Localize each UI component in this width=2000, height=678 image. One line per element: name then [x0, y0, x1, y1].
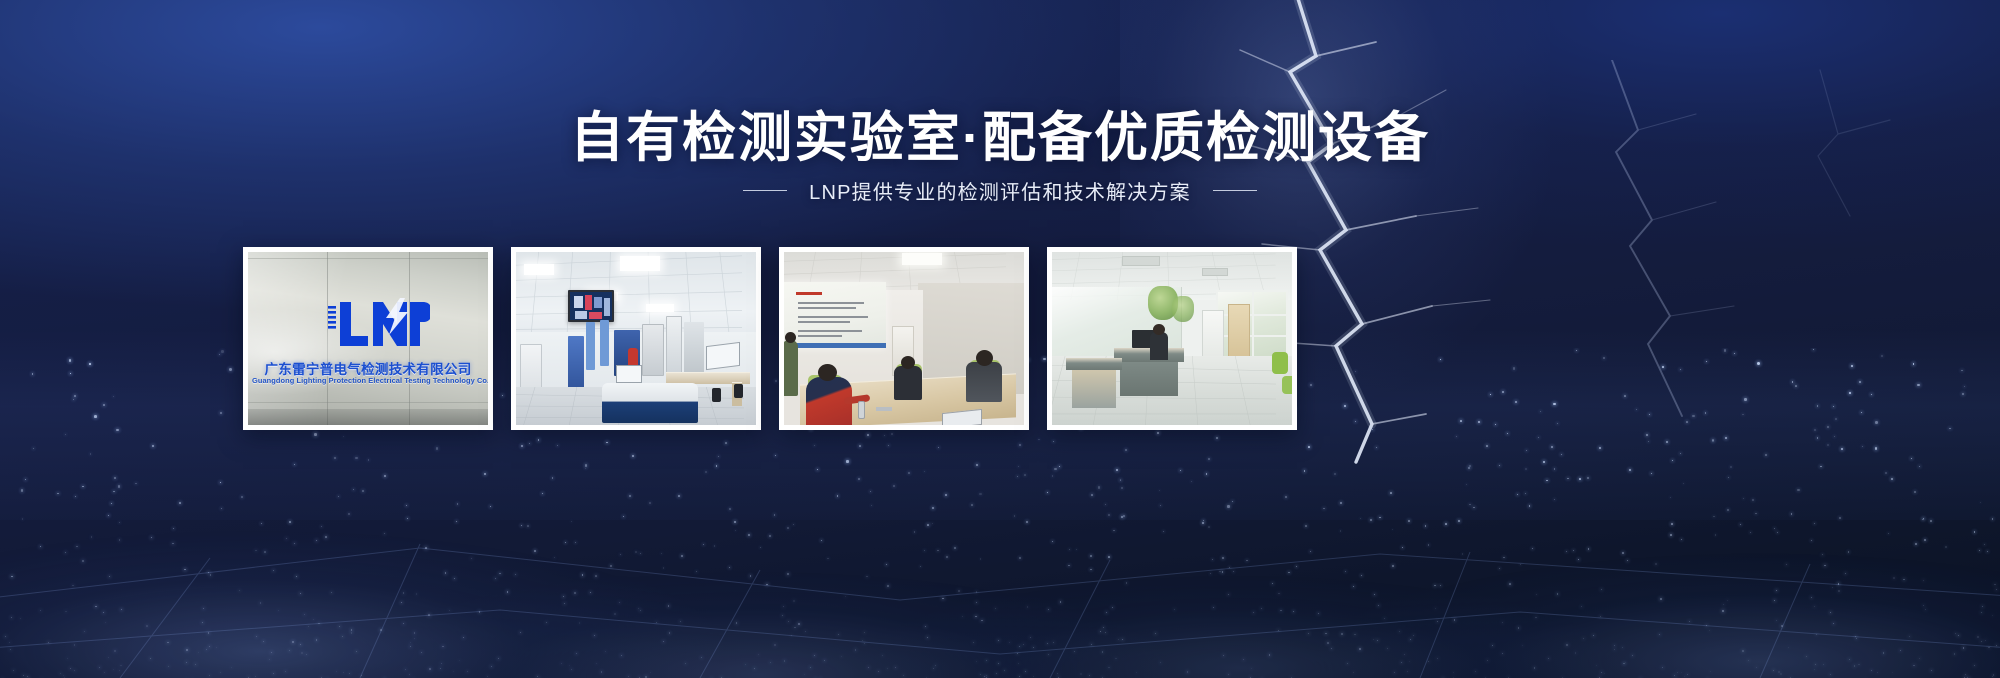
person-participant-right	[966, 362, 1002, 402]
hero-banner: 自有检测实验室·配备优质检测设备 LNP提供专业的检测评估和技术解决方案	[0, 0, 2000, 678]
decorative-rule-left	[743, 190, 787, 191]
decorative-rule-right	[1213, 190, 1257, 191]
projection-screen	[784, 282, 886, 348]
signage-company-cn: 广东雷宁普电气检测技术有限公司	[256, 358, 480, 378]
gallery-photo-signage-wall[interactable]: 广东雷宁普电气检测技术有限公司 Guangdong Lighting Prote…	[243, 247, 493, 430]
gallery-photo-meeting-room[interactable]	[779, 247, 1029, 430]
gallery-photo-laboratory[interactable]	[511, 247, 761, 430]
person-at-desk	[1150, 332, 1168, 360]
person-presenter	[784, 340, 798, 396]
photo-gallery: 广东雷宁普电气检测技术有限公司 Guangdong Lighting Prote…	[243, 247, 1297, 430]
banner-headline: 自有检测实验室·配备优质检测设备	[0, 108, 2000, 168]
wall-mounted-display-icon	[568, 290, 614, 322]
banner-subtitle-row: LNP提供专业的检测评估和技术解决方案	[0, 176, 2000, 205]
person-participant-middle	[894, 366, 922, 400]
gallery-photo-office[interactable]	[1047, 247, 1297, 430]
banner-subtitle: LNP提供专业的检测评估和技术解决方案	[809, 176, 1191, 205]
lnp-logo-icon	[326, 296, 430, 352]
signage-company-en: Guangdong Lighting Protection Electrical…	[252, 376, 484, 385]
